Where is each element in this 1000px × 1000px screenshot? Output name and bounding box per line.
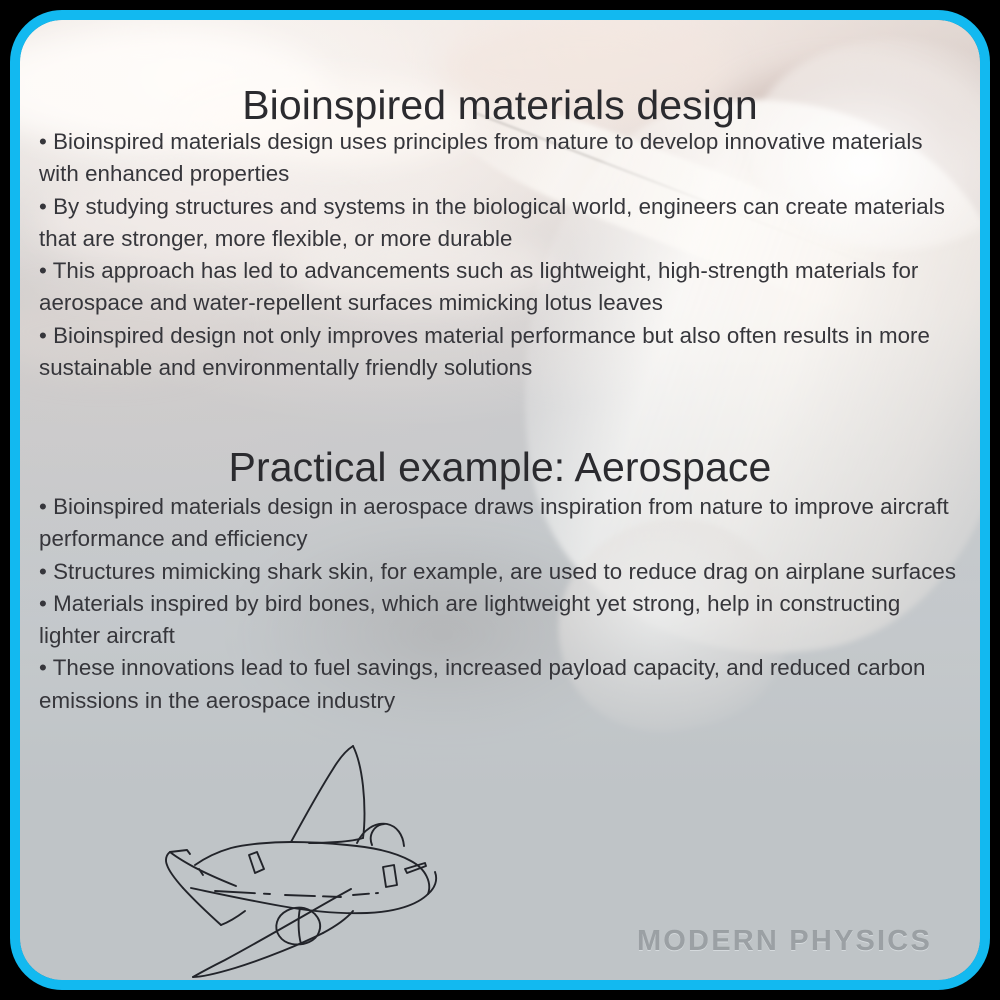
bullet-item: • This approach has led to advancements … [39, 255, 964, 320]
bullet-item: • Materials inspired by bird bones, whic… [39, 588, 964, 653]
slide-canvas: Bioinspired materials design • Bioinspir… [20, 20, 980, 980]
bullet-list-2: • Bioinspired materials design in aerosp… [39, 491, 964, 717]
bullet-item: • By studying structures and systems in … [39, 191, 964, 256]
presentation-slide: Bioinspired materials design • Bioinspir… [0, 0, 1000, 1000]
slide-content: Bioinspired materials design • Bioinspir… [20, 20, 980, 980]
bullet-item: • Bioinspired materials design uses prin… [39, 126, 964, 191]
airplane-sketch-icon [95, 738, 465, 980]
bullet-item: • Bioinspired materials design in aerosp… [39, 491, 964, 556]
bullet-list-1: • Bioinspired materials design uses prin… [39, 126, 964, 384]
bullet-item: • These innovations lead to fuel savings… [39, 652, 964, 717]
section-heading-1: Bioinspired materials design [40, 83, 960, 127]
section-heading-2: Practical example: Aerospace [40, 445, 960, 489]
watermark: MODERN PHYSICS [637, 925, 932, 958]
bullet-item: • Bioinspired design not only improves m… [39, 320, 964, 385]
bullet-item: • Structures mimicking shark skin, for e… [39, 556, 964, 588]
